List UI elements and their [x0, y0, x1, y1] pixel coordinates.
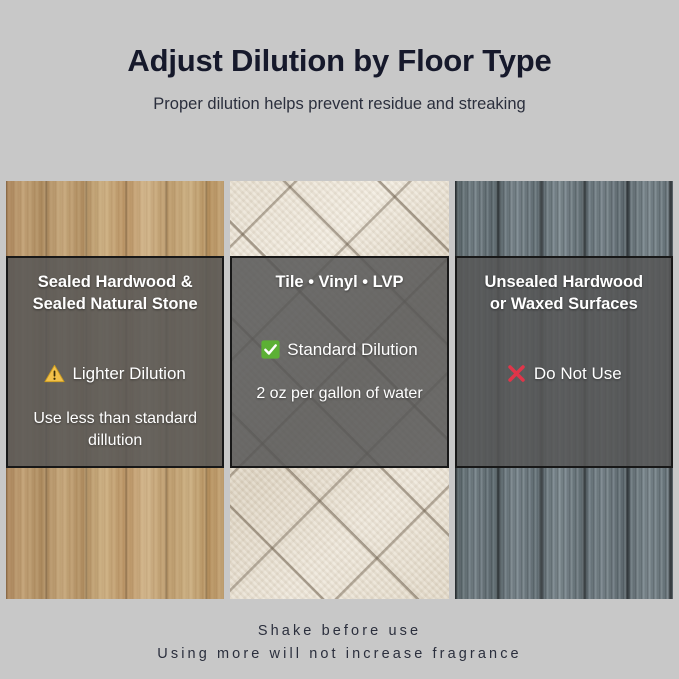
- floor-type-panels: Sealed Hardwood & Sealed Natural Stone L…: [6, 181, 673, 599]
- panel-unsealed-waxed[interactable]: Unsealed Hardwood or Waxed Surfaces Do N…: [455, 181, 673, 599]
- panel-overlay-card: Unsealed Hardwood or Waxed Surfaces Do N…: [455, 256, 673, 468]
- panel-heading: Sealed Hardwood & Sealed Natural Stone: [16, 271, 214, 316]
- panel-heading-line1: Unsealed Hardwood: [465, 271, 663, 293]
- verdict-label: Standard Dilution: [287, 341, 417, 358]
- footer-line-shake: Shake before use: [0, 620, 679, 643]
- panel-overlay-card: Tile • Vinyl • LVP Standard Dilution 2 o…: [230, 256, 448, 468]
- warning-triangle-icon: [44, 363, 65, 384]
- panel-heading: Tile • Vinyl • LVP: [240, 271, 438, 293]
- panel-heading-line1: Tile • Vinyl • LVP: [240, 271, 438, 293]
- footer: Shake before use Using more will not inc…: [0, 620, 679, 667]
- verdict-label: Do Not Use: [534, 365, 622, 382]
- page-subtitle: Proper dilution helps prevent residue an…: [0, 95, 679, 115]
- panel-sealed-hardwood-stone[interactable]: Sealed Hardwood & Sealed Natural Stone L…: [6, 181, 224, 599]
- page-title: Adjust Dilution by Floor Type: [0, 44, 679, 78]
- panel-heading: Unsealed Hardwood or Waxed Surfaces: [465, 271, 663, 316]
- panel-detail: 2 oz per gallon of water: [240, 383, 438, 405]
- verdict-row: Do Not Use: [465, 363, 663, 384]
- verdict-label: Lighter Dilution: [72, 365, 185, 382]
- footer-line-fragrance: Using more will not increase fragrance: [0, 643, 679, 666]
- panel-heading-line2: or Waxed Surfaces: [465, 293, 663, 315]
- panel-tile-vinyl-lvp[interactable]: Tile • Vinyl • LVP Standard Dilution 2 o…: [230, 181, 448, 599]
- header: Adjust Dilution by Floor Type Proper dil…: [0, 0, 679, 115]
- red-cross-icon: [506, 363, 527, 384]
- verdict-row: Standard Dilution: [240, 340, 438, 359]
- panel-detail: Use less than standard dillution: [16, 408, 214, 452]
- panel-heading-line1: Sealed Hardwood &: [16, 271, 214, 293]
- panel-heading-line2: Sealed Natural Stone: [16, 293, 214, 315]
- verdict-row: Lighter Dilution: [16, 363, 214, 384]
- green-check-icon: [261, 340, 280, 359]
- panel-overlay-card: Sealed Hardwood & Sealed Natural Stone L…: [6, 256, 224, 468]
